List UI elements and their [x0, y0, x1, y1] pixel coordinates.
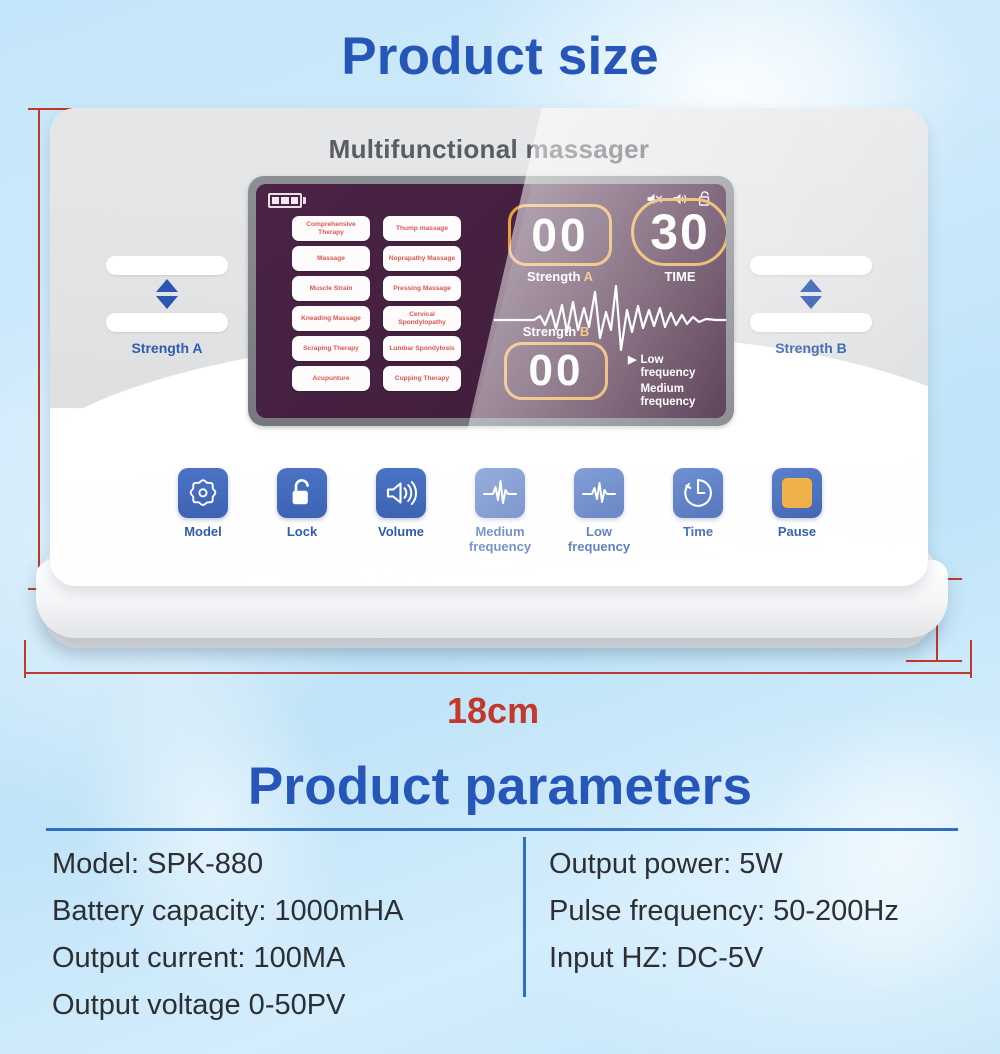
parameter-row: Model: SPK-880 — [52, 841, 523, 888]
page-title-product-size: Product size — [0, 26, 1000, 87]
therapy-item[interactable]: Massage — [292, 246, 370, 271]
triangle-down-icon — [156, 296, 178, 309]
control-medium-frequency[interactable]: Medium frequency — [457, 468, 543, 554]
strength-b-readout: Strength B 00 — [504, 324, 608, 400]
strength-b-up-button[interactable] — [750, 256, 872, 275]
device-name-label: Multifunctional massager — [50, 134, 928, 165]
parameters-divider — [523, 837, 526, 997]
therapy-list-right: Thump massage Noprapathy Massage Pressin… — [383, 216, 461, 391]
control-low-frequency[interactable]: Low frequency — [556, 468, 642, 554]
parameter-row: Battery capacity: 1000mHA — [52, 888, 523, 935]
clock-icon — [673, 468, 723, 518]
parameters-section: Model: SPK-880 Battery capacity: 1000mHA… — [46, 828, 958, 1029]
therapy-item[interactable]: Lumbar Spondylosis — [383, 336, 461, 361]
lock-open-icon — [277, 468, 327, 518]
therapy-item[interactable]: Comprehensive Therapy — [292, 216, 370, 241]
pulse-icon — [475, 468, 525, 518]
control-volume-label: Volume — [358, 525, 444, 540]
control-time-label: Time — [655, 525, 741, 540]
parameter-row: Output power: 5W — [549, 841, 958, 888]
strength-a-value-box: 00 — [508, 204, 612, 266]
control-lock[interactable]: Lock — [259, 468, 345, 554]
control-pause-label: Pause — [754, 525, 840, 540]
lcd-screen: Comprehensive Therapy Massage Muscle Str… — [256, 184, 726, 418]
frequency-options: ▶ Low frequency ▶ Medium frequency — [628, 354, 724, 412]
control-low-frequency-label: Low frequency — [556, 525, 642, 554]
control-time[interactable]: Time — [655, 468, 741, 554]
parameters-column-left: Model: SPK-880 Battery capacity: 1000mHA… — [46, 841, 523, 1029]
therapy-item[interactable]: Cervical Spondylopathy — [383, 306, 461, 331]
battery-icon — [268, 193, 306, 208]
control-model[interactable]: Model — [160, 468, 246, 554]
therapy-item[interactable]: Kneading Massage — [292, 306, 370, 331]
strength-a-down-button[interactable] — [106, 313, 228, 332]
therapy-item[interactable]: Pressing Massage — [383, 276, 461, 301]
strength-a-up-button[interactable] — [106, 256, 228, 275]
selected-marker-icon: ▶ — [628, 354, 636, 366]
triangle-down-icon — [800, 296, 822, 309]
therapy-item[interactable]: Thump massage — [383, 216, 461, 241]
speaker-icon — [376, 468, 426, 518]
gear-icon — [178, 468, 228, 518]
pulse-icon — [574, 468, 624, 518]
frequency-option-low[interactable]: ▶ Low frequency — [628, 354, 724, 380]
pause-square-icon — [772, 468, 822, 518]
time-value-box: 30 — [631, 198, 726, 266]
control-volume[interactable]: Volume — [358, 468, 444, 554]
therapy-item[interactable]: Acupunture — [292, 366, 370, 391]
strength-b-controls-label: Strength B — [750, 340, 872, 356]
therapy-item[interactable]: Cupping Therapy — [383, 366, 461, 391]
frequency-option-label: Medium frequency — [640, 383, 724, 409]
therapy-item[interactable]: Scraping Therapy — [292, 336, 370, 361]
strength-a-controls-label: Strength A — [106, 340, 228, 356]
therapy-item[interactable]: Noprapathy Massage — [383, 246, 461, 271]
page-title-product-parameters: Product parameters — [0, 756, 1000, 817]
therapy-item[interactable]: Muscle Strain — [292, 276, 370, 301]
triangle-up-icon — [800, 279, 822, 292]
control-model-label: Model — [160, 525, 246, 540]
strength-b-label: Strength B — [504, 324, 608, 339]
strength-a-value: 00 — [531, 208, 588, 262]
parameter-row: Output current: 100MA — [52, 935, 523, 982]
parameters-top-rule — [46, 828, 958, 831]
control-button-row: Model Lock Volume — [160, 468, 840, 554]
frequency-option-medium[interactable]: ▶ Medium frequency — [628, 383, 724, 409]
frequency-option-label: Low frequency — [640, 354, 712, 380]
triangle-up-icon — [156, 279, 178, 292]
control-lock-label: Lock — [259, 525, 345, 540]
massager-device: Multifunctional massager — [36, 108, 948, 648]
time-readout: 30 TIME — [631, 198, 726, 284]
strength-b-value-box: 00 — [504, 342, 608, 400]
therapy-list-left: Comprehensive Therapy Massage Muscle Str… — [292, 216, 370, 391]
time-value: 30 — [650, 203, 710, 261]
parameter-row: Input HZ: DC-5V — [549, 935, 958, 982]
strength-b-controls: Strength B — [750, 256, 872, 356]
parameters-column-right: Output power: 5W Pulse frequency: 50-200… — [523, 841, 958, 1029]
control-pause[interactable]: Pause — [754, 468, 840, 554]
dimension-width-label: 18cm — [447, 690, 539, 732]
strength-b-value: 00 — [529, 346, 584, 396]
strength-b-down-button[interactable] — [750, 313, 872, 332]
strength-a-controls: Strength A — [106, 256, 228, 356]
parameter-row: Output voltage 0-50PV — [52, 982, 523, 1029]
strength-a-readout: 00 Strength A — [508, 204, 612, 284]
control-medium-frequency-label: Medium frequency — [457, 525, 543, 554]
parameter-row: Pulse frequency: 50-200Hz — [549, 888, 958, 935]
screen-bezel: Comprehensive Therapy Massage Muscle Str… — [248, 176, 734, 426]
device-top-face: Multifunctional massager — [50, 108, 928, 586]
